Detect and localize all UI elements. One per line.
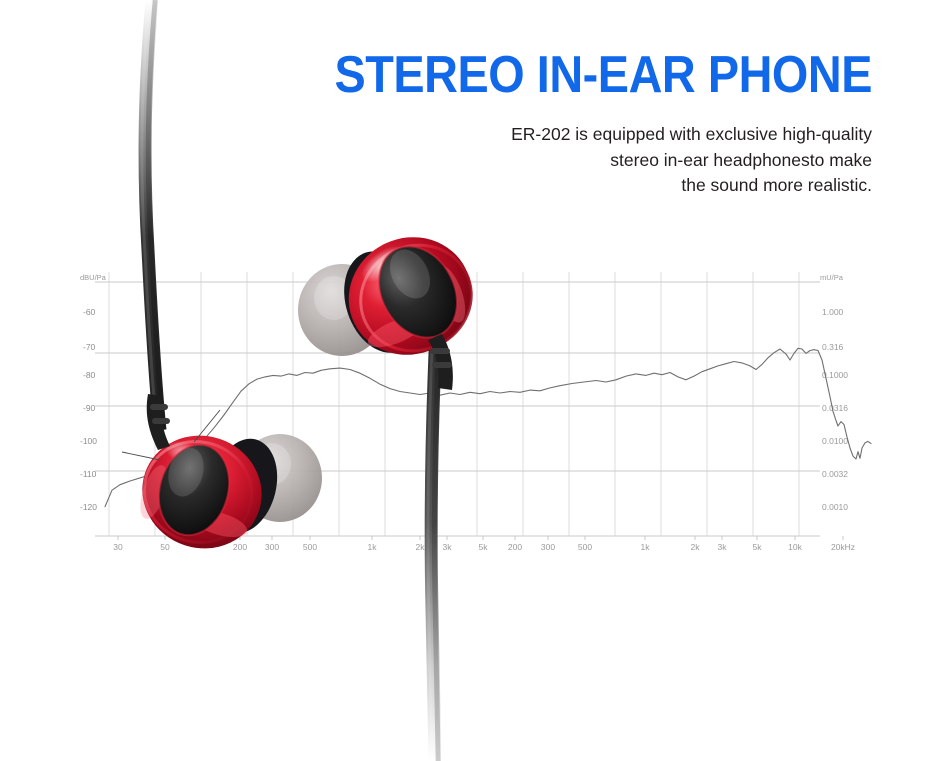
x-tick-label: 2k [416,542,426,552]
x-tick-label: 1k [368,542,378,552]
x-tick-label: 200 [508,542,522,552]
chart-horizontal-gridlines [95,282,820,536]
x-tick-label: 2k [691,542,701,552]
x-tick-label: 1k [641,542,651,552]
y2-tick-label: 0.316 [822,342,844,352]
frequency-response-chart: dBU/Pa -60 -70 -80 -90 -100 -110 -120 mU… [0,0,930,761]
page-subtitle: ER-202 is equipped with exclusive high-q… [0,122,872,199]
x-tick-label: 3k [443,542,453,552]
x-tick-label: 500 [578,542,592,552]
x-tick-label: 10k [788,542,802,552]
left-axis-unit: dBU/Pa [80,273,107,282]
x-tick-label: 50 [160,542,170,552]
x-tick-label: 200 [233,542,247,552]
y-tick-label: -100 [80,436,97,446]
y-tick-label: -110 [80,469,97,479]
chart-vertical-gridlines [109,272,799,536]
y2-tick-label: 0.0032 [822,469,848,479]
y-tick-label: -90 [83,403,96,413]
x-tick-label: 500 [303,542,317,552]
subtitle-line: stereo in-ear headphonesto make [0,148,872,174]
y-tick-label: -80 [83,370,96,380]
chart-svg: dBU/Pa -60 -70 -80 -90 -100 -110 -120 mU… [0,0,930,761]
x-axis-ticks: 30502003005001k2k3k5k2003005001k2k3k5k10… [113,536,855,552]
product-banner: dBU/Pa -60 -70 -80 -90 -100 -110 -120 mU… [0,0,930,761]
y2-tick-label: 0.0010 [822,502,848,512]
y-tick-label: -120 [80,502,97,512]
subtitle-line: the sound more realistic. [0,173,872,199]
x-tick-label: 300 [541,542,555,552]
response-curve [105,348,871,506]
y-tick-label: -70 [83,342,96,352]
x-tick-label: 3k [718,542,728,552]
x-tick-label: 5k [753,542,763,552]
left-axis-ticks: -60 -70 -80 -90 -100 -110 -120 [80,307,97,512]
y2-tick-label: 1.000 [822,307,844,317]
x-tick-label: 5k [479,542,489,552]
y2-tick-label: 0.0100 [822,436,848,446]
subtitle-line: ER-202 is equipped with exclusive high-q… [0,122,872,148]
page-title: STEREO IN-EAR PHONE [87,46,872,104]
right-axis-unit: mU/Pa [820,273,844,282]
y-tick-label: -60 [83,307,96,317]
y2-tick-label: 0.0316 [822,403,848,413]
x-tick-label: 20kHz [831,542,855,552]
x-tick-label: 30 [113,542,123,552]
x-tick-label: 300 [265,542,279,552]
right-axis-ticks: 1.000 0.316 0.1000 0.0316 0.0100 0.0032 … [822,307,848,512]
